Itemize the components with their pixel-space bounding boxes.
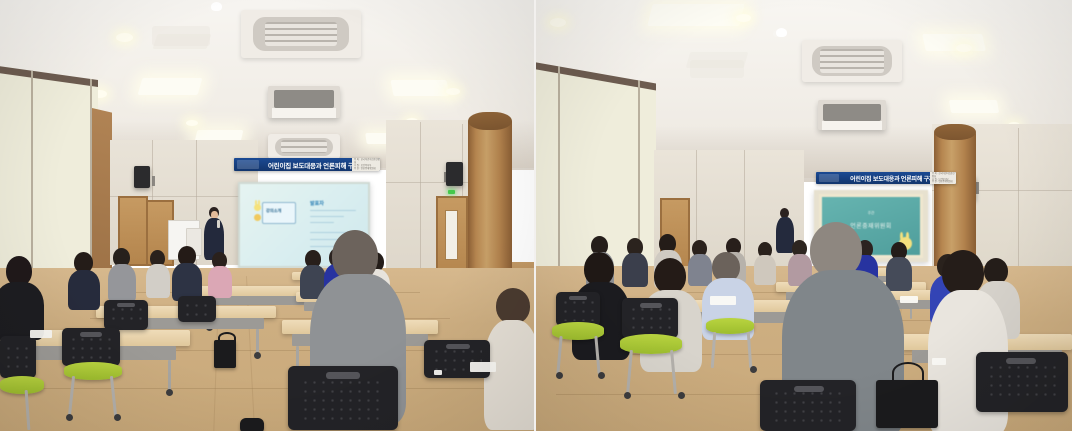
chair-back bbox=[0, 336, 36, 378]
audience-member bbox=[172, 246, 202, 296]
pillar-cap bbox=[468, 112, 512, 130]
audience-head bbox=[496, 288, 530, 324]
chair-handle bbox=[446, 344, 470, 349]
audience-torso bbox=[68, 270, 100, 310]
ac-grille bbox=[820, 49, 884, 73]
chair-back bbox=[62, 328, 120, 366]
wall-speaker-left bbox=[134, 166, 150, 188]
chair-caster bbox=[114, 414, 121, 421]
ceiling-ac-cassette bbox=[268, 134, 340, 159]
projector-body bbox=[274, 90, 335, 109]
ac-grille bbox=[265, 22, 337, 47]
table-leg bbox=[168, 360, 171, 390]
chair-perforations bbox=[629, 305, 672, 331]
chair-perforations bbox=[109, 305, 142, 325]
left-photograph: 어린이집 보도대응과 언론피해 구제방법 주 최 : 한국어린이집총연합회 후 … bbox=[0, 0, 534, 431]
ceiling-projector bbox=[268, 86, 340, 118]
slide-heading: 발표자 bbox=[310, 200, 324, 207]
audience-member bbox=[0, 256, 42, 336]
chair-handle bbox=[80, 332, 102, 337]
ceiling-downlight bbox=[186, 120, 198, 126]
audience-torso bbox=[754, 255, 776, 285]
microphone-icon bbox=[217, 220, 220, 228]
bunny-mascot-icon bbox=[254, 214, 261, 221]
sprinkler-head bbox=[776, 28, 787, 37]
banner-emblem-icon bbox=[237, 160, 259, 169]
paper-sheet bbox=[932, 358, 946, 365]
bunny-ear-icon bbox=[258, 200, 260, 205]
bunny-ear-icon bbox=[900, 232, 903, 240]
audience-member bbox=[208, 252, 232, 296]
chair-caster bbox=[598, 372, 605, 379]
audience-head bbox=[654, 258, 686, 294]
door-glass-panel bbox=[445, 210, 458, 260]
banner-credits: 주 최 : 한국어린이집총연합회 후 원 : 보건복지부 주 관 : 언론중재위… bbox=[352, 158, 380, 171]
banner-emblem-icon bbox=[819, 174, 839, 182]
ceiling-ac-cassette bbox=[152, 26, 210, 46]
speaker-bracket bbox=[152, 176, 155, 186]
wall-speaker-right bbox=[446, 162, 463, 186]
floor-tote-bag bbox=[214, 340, 236, 368]
ceiling-panel-light bbox=[922, 34, 986, 51]
event-banner-left: 어린이집 보도대응과 언론피해 구제방법 주 최 : 한국어린이집총연합회 후 … bbox=[234, 158, 380, 171]
pillar-cap bbox=[934, 124, 976, 140]
audience-torso bbox=[146, 264, 170, 298]
chair-back bbox=[622, 298, 678, 338]
chair-back bbox=[976, 352, 1068, 412]
table-caster bbox=[254, 352, 261, 359]
exit-indicator-icon bbox=[448, 190, 455, 194]
projector-body bbox=[823, 104, 880, 121]
audience-member bbox=[146, 250, 170, 296]
chair-caster bbox=[556, 372, 563, 379]
chair-caster bbox=[750, 366, 757, 373]
banner-credit-line: 주 관 : 언론중재위원회 bbox=[352, 168, 380, 171]
audience-torso bbox=[484, 320, 534, 430]
bunny-ear-icon bbox=[906, 232, 909, 240]
slide-subtitle: 주관 bbox=[822, 211, 920, 216]
bunny-ear-icon bbox=[255, 200, 257, 205]
event-banner-right: 어린이집 보도대응과 언론피해 구제방법 주 최 : 한국어린이집총연합회 후 … bbox=[816, 172, 956, 184]
slide-card-label: 강의소개 bbox=[266, 208, 281, 214]
chair-back bbox=[760, 380, 856, 431]
chair-caster bbox=[66, 414, 73, 421]
chair-handle bbox=[1006, 358, 1036, 364]
projector-lens-plate bbox=[272, 108, 335, 118]
audience-member bbox=[754, 242, 776, 282]
chair-perforations bbox=[772, 389, 845, 423]
ceiling-ac-cassette bbox=[241, 10, 361, 58]
chair-perforations bbox=[561, 298, 594, 320]
chair-perforations bbox=[987, 363, 1057, 403]
table-leg bbox=[256, 329, 259, 353]
ceiling-ac-cassette bbox=[802, 40, 902, 82]
chair-perforations bbox=[69, 335, 113, 360]
audience-torso bbox=[208, 266, 232, 298]
banner-credits: 주 최 : 한국어린이집총연합회 후 원 : 보건복지부 주 관 : 언론중재위… bbox=[930, 172, 956, 184]
bunny-mascot-icon bbox=[254, 204, 261, 211]
projector-lens-plate bbox=[822, 121, 882, 130]
chair-handle bbox=[117, 303, 135, 307]
photo-pair-canvas: 어린이집 보도대응과 언론피해 구제방법 주 최 : 한국어린이집총연합회 후 … bbox=[0, 0, 1072, 431]
bag-handle bbox=[218, 332, 236, 344]
chair-seat bbox=[0, 376, 44, 394]
ceiling-projector bbox=[818, 100, 886, 130]
audience-head bbox=[584, 252, 614, 286]
tile-joint bbox=[420, 122, 421, 272]
audience-member bbox=[68, 252, 100, 304]
chair-perforations bbox=[183, 301, 212, 318]
floor-plank-line bbox=[20, 388, 520, 389]
ceiling-downlight bbox=[550, 18, 566, 27]
chair-caster bbox=[678, 392, 685, 399]
photo-seam-divider bbox=[534, 0, 536, 431]
chair-handle bbox=[569, 296, 587, 300]
right-photograph: 어린이집 보도대응과 언론피해 구제방법 주 최 : 한국어린이집총연합회 후 … bbox=[536, 0, 1072, 431]
paper-sheet bbox=[710, 296, 736, 305]
floor-backpack bbox=[240, 418, 264, 431]
table-caster bbox=[166, 389, 173, 396]
chair-handle bbox=[326, 372, 360, 379]
ceiling-ac-cassette bbox=[690, 60, 744, 78]
chair-back bbox=[178, 296, 216, 322]
sprinkler-head bbox=[211, 2, 222, 11]
tile-joint bbox=[1018, 128, 1019, 278]
floor-laptop-bag bbox=[876, 380, 938, 428]
chair-back bbox=[104, 300, 148, 330]
paper-sheet bbox=[470, 362, 496, 372]
audience-member-foreground bbox=[488, 288, 534, 431]
audience-torso bbox=[108, 264, 136, 302]
ceiling-downlight bbox=[116, 33, 133, 42]
ceiling-downlight bbox=[956, 44, 972, 52]
chair-handle bbox=[640, 303, 662, 308]
paper-sheet bbox=[900, 296, 918, 303]
audience-member bbox=[108, 248, 136, 298]
chair-caster bbox=[624, 392, 631, 399]
ceiling-downlight bbox=[446, 88, 460, 95]
chair-perforations bbox=[301, 378, 385, 420]
ac-grille bbox=[281, 140, 327, 153]
speaker-bracket bbox=[976, 182, 979, 194]
ceiling-panel-light bbox=[390, 80, 449, 96]
ceiling-panel-light bbox=[647, 4, 744, 26]
chair-handle bbox=[794, 386, 824, 392]
ceiling-downlight bbox=[736, 14, 751, 22]
paper-sheet bbox=[30, 330, 52, 338]
chair-back bbox=[288, 366, 398, 430]
paper-sheet bbox=[434, 370, 442, 375]
ceiling-panel-light bbox=[138, 78, 203, 95]
chair-back bbox=[556, 292, 600, 326]
ceiling-panel-light bbox=[949, 100, 999, 113]
bag-handle bbox=[892, 362, 924, 384]
chair-perforations bbox=[4, 344, 31, 372]
banner-credit-line: 주 관 : 언론중재위원회 bbox=[930, 181, 956, 184]
